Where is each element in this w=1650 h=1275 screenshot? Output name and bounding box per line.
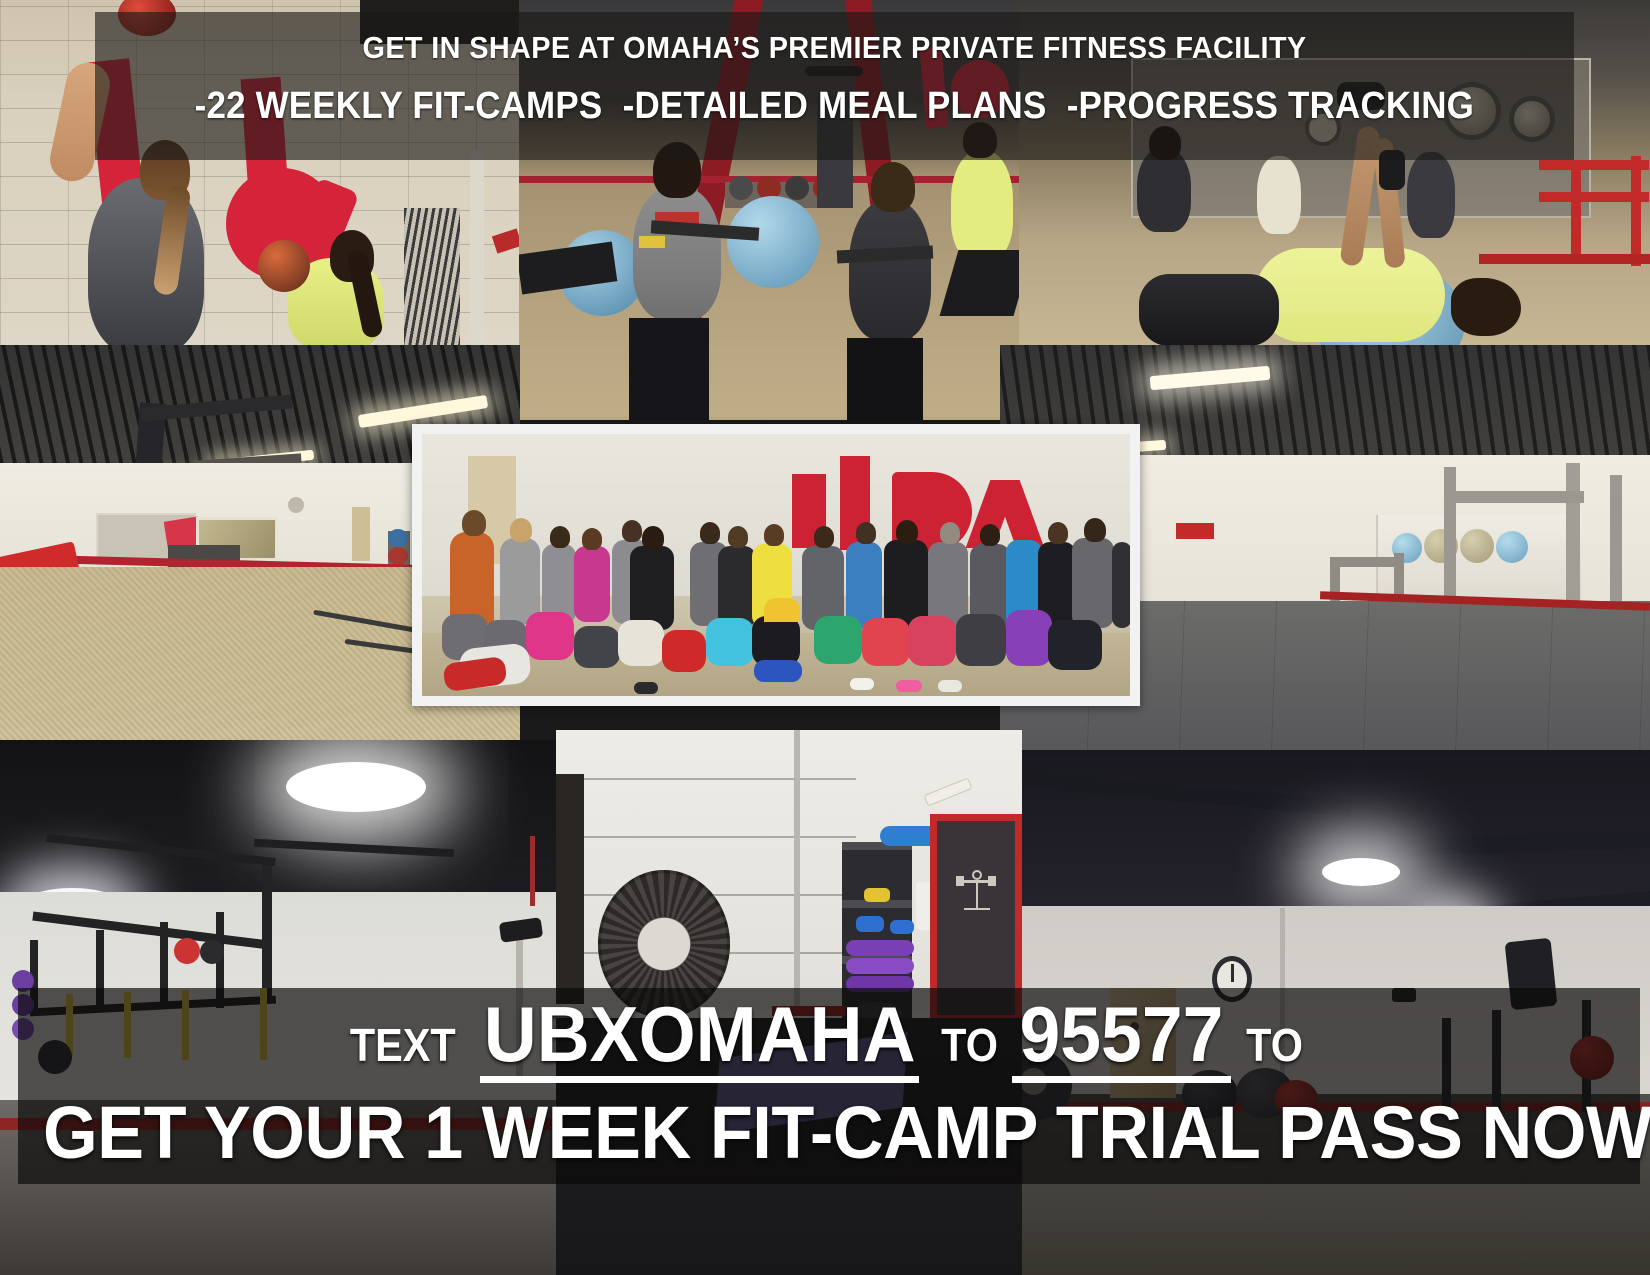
cta-text-prefix: TEXT xyxy=(350,1018,456,1072)
cta-line-2: GET YOUR 1 WEEK FIT-CAMP TRIAL PASS NOW! xyxy=(0,1090,1650,1175)
feature-meal-plans: -DETAILED MEAL PLANS xyxy=(623,85,1047,127)
group-photo xyxy=(422,434,1130,696)
cta-text-to-2: TO xyxy=(1246,1018,1303,1072)
cta-keyword: UBXOMAHA xyxy=(480,996,919,1083)
headline: GET IN SHAPE AT OMAHA’S PREMIER PRIVATE … xyxy=(362,30,1306,66)
stability-ball xyxy=(727,196,819,288)
promo-poster: GET IN SHAPE AT OMAHA’S PREMIER PRIVATE … xyxy=(0,0,1650,1275)
cta-line-1: TEXT UBXOMAHA TO 95577 TO xyxy=(0,996,1650,1083)
cta-text-to-1: TO xyxy=(941,1018,998,1072)
feature-progress-tracking: -PROGRESS TRACKING xyxy=(1067,85,1474,127)
cta-shortcode: 95577 xyxy=(1012,996,1231,1083)
group-photo-frame xyxy=(412,424,1140,706)
feature-fit-camps: -22 WEEKLY FIT-CAMPS xyxy=(195,85,603,127)
feature-list: -22 WEEKLY FIT-CAMPS-DETAILED MEAL PLANS… xyxy=(195,85,1474,128)
cta-offer-text: GET YOUR 1 WEEK FIT-CAMP TRIAL PASS NOW! xyxy=(43,1090,1650,1175)
header-overlay: GET IN SHAPE AT OMAHA’S PREMIER PRIVATE … xyxy=(95,12,1574,160)
